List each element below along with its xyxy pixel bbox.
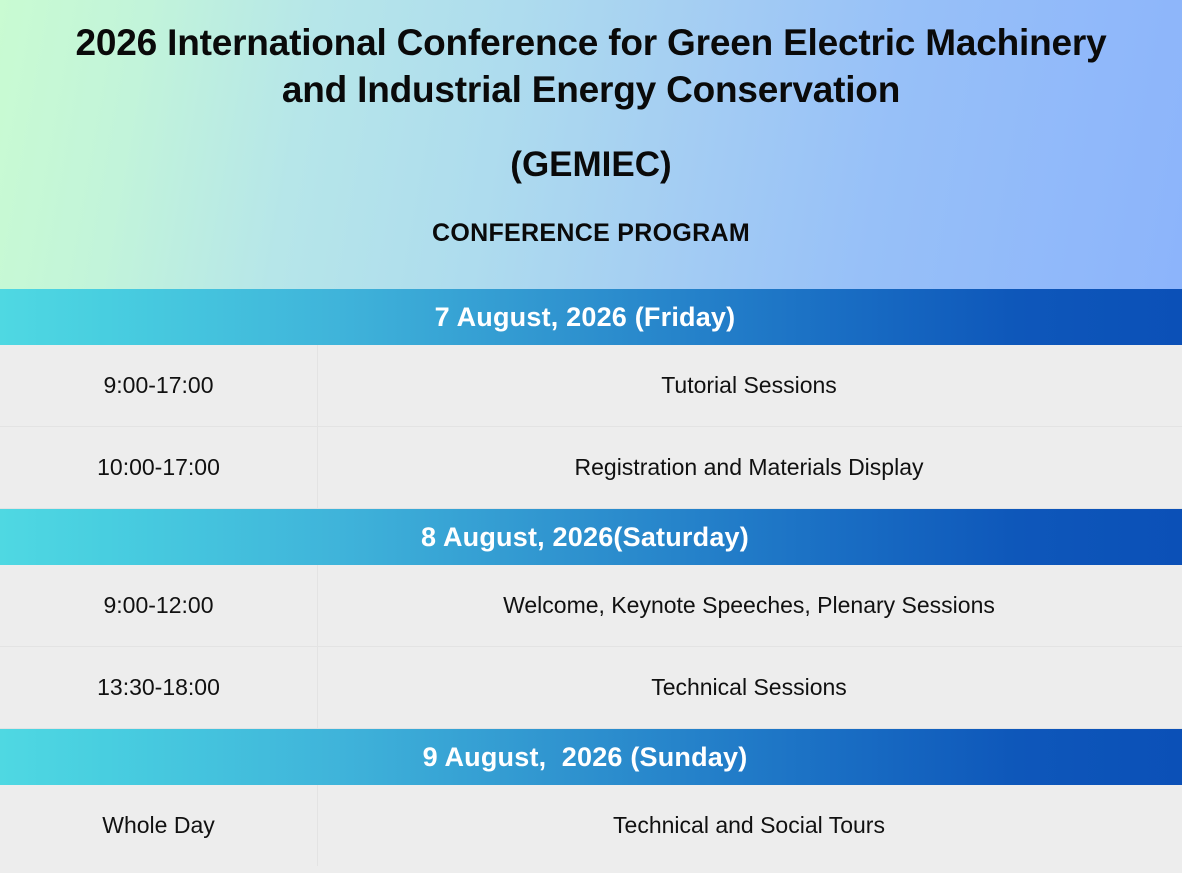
- conference-banner: 2026 International Conference for Green …: [0, 0, 1182, 289]
- session-time: 9:00-17:00: [0, 345, 318, 426]
- program-schedule: 7 August, 2026 (Friday) 9:00-17:00 Tutor…: [0, 289, 1182, 873]
- day-header-friday: 7 August, 2026 (Friday): [0, 289, 1182, 345]
- table-row: 9:00-12:00 Welcome, Keynote Speeches, Pl…: [0, 565, 1182, 647]
- conference-acronym: (GEMIEC): [510, 147, 671, 182]
- session-time: Whole Day: [0, 785, 318, 866]
- session-time: 13:30-18:00: [0, 647, 318, 728]
- page-subtitle: CONFERENCE PROGRAM: [432, 221, 750, 246]
- table-row: 13:30-18:00 Technical Sessions: [0, 647, 1182, 729]
- conference-title: 2026 International Conference for Green …: [41, 19, 1141, 114]
- session-time: 9:00-12:00: [0, 565, 318, 646]
- table-row: 9:00-17:00 Tutorial Sessions: [0, 345, 1182, 427]
- day-header-sunday: 9 August, 2026 (Sunday): [0, 729, 1182, 785]
- session-description: Technical and Social Tours: [318, 785, 1182, 866]
- day-header-label: 7 August, 2026 (Friday): [435, 302, 736, 333]
- session-description: Welcome, Keynote Speeches, Plenary Sessi…: [318, 565, 1182, 646]
- day-header-saturday: 8 August, 2026(Saturday): [0, 509, 1182, 565]
- day-header-label: 8 August, 2026(Saturday): [421, 522, 749, 553]
- session-description: Registration and Materials Display: [318, 427, 1182, 508]
- conference-program-page: 2026 International Conference for Green …: [0, 0, 1182, 873]
- table-row: Whole Day Technical and Social Tours: [0, 785, 1182, 866]
- day-header-label: 9 August, 2026 (Sunday): [423, 742, 748, 773]
- session-description: Tutorial Sessions: [318, 345, 1182, 426]
- session-description: Technical Sessions: [318, 647, 1182, 728]
- session-time: 10:00-17:00: [0, 427, 318, 508]
- table-row: 10:00-17:00 Registration and Materials D…: [0, 427, 1182, 509]
